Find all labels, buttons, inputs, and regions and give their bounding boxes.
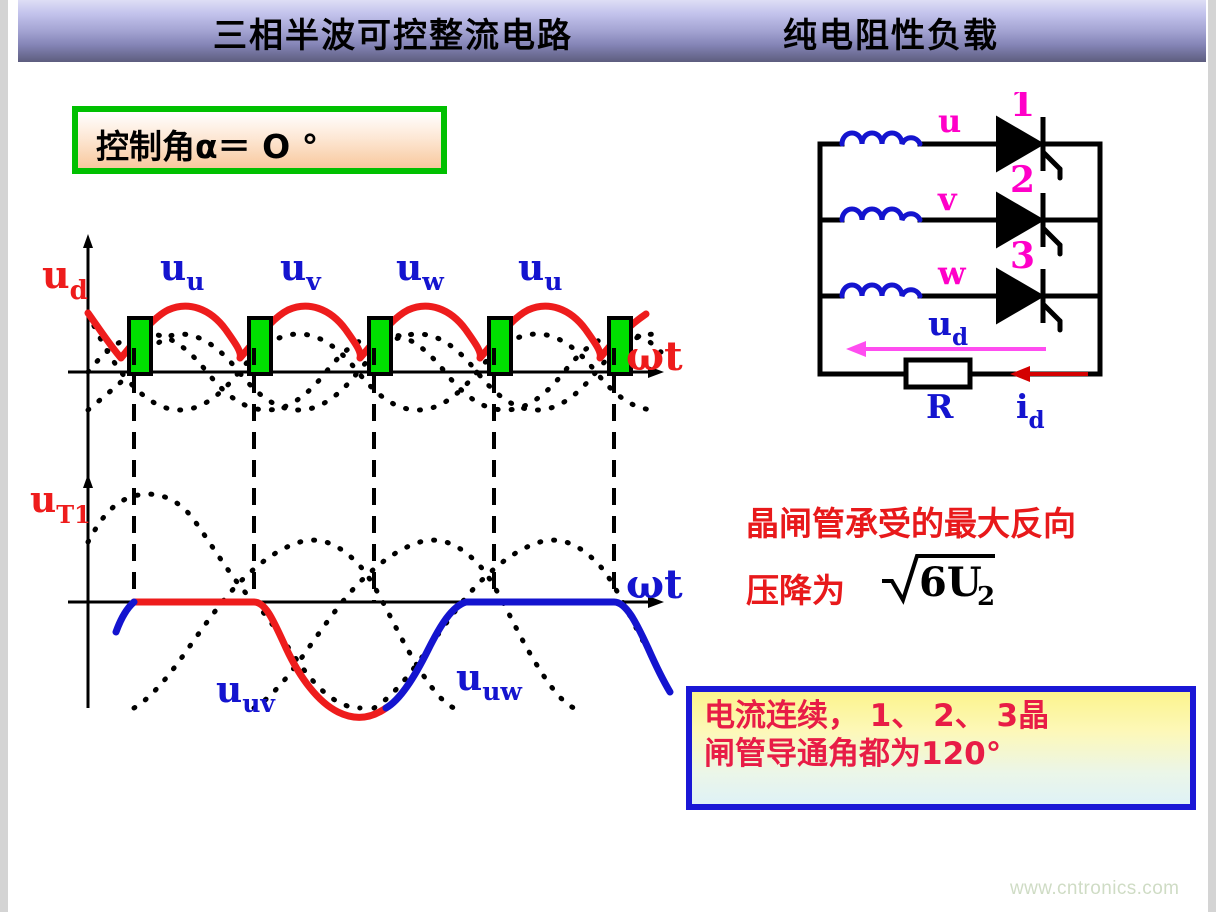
curve-label-uu-1: uu: [160, 247, 204, 296]
curve-label-uu-2: uu: [518, 247, 562, 296]
max-reverse-voltage-statement: 晶闸管承受的最大反向 压降为 6U 2: [746, 500, 1186, 619]
curve-label-uuw: uuw: [456, 657, 523, 706]
slide-canvas: 三相半波可控整流电路 纯电阻性负载 控制角α＝ O °: [8, 0, 1208, 912]
curve-label-uw: uw: [396, 247, 445, 296]
transformer-coil-group: [842, 133, 920, 296]
id-label: id: [1016, 387, 1045, 432]
ud-label: ud: [928, 304, 968, 351]
page-subtitle: 纯电阻性负载: [783, 8, 999, 57]
watermark: www.cntronics.com: [1010, 878, 1179, 900]
thyristor-label-1: 1: [1010, 92, 1035, 125]
gate-pulse: [369, 318, 391, 374]
thyristor-label-3: 3: [1010, 235, 1035, 277]
statement-line-2-text: 压降为: [746, 571, 845, 610]
phase-label-v: v: [937, 180, 958, 218]
slide-header: 三相半波可控整流电路 纯电阻性负载: [18, 0, 1206, 62]
phase-label-w: w: [937, 254, 967, 292]
curve-label-uuv: uuv: [216, 669, 276, 718]
control-angle-text: 控制角α＝ O °: [96, 120, 318, 168]
note-line-1: 电流连续， 1、 2、 3晶: [704, 698, 1190, 736]
gate-pulse: [249, 318, 271, 374]
formula-subscript: 2: [977, 582, 995, 606]
id-arrow: [1010, 366, 1088, 382]
resistor-symbol: [906, 360, 970, 387]
statement-line-1: 晶闸管承受的最大反向: [746, 500, 1186, 548]
thyristor-3: [998, 269, 1060, 330]
ut1-axis-label: uT1: [30, 479, 91, 529]
omega-t-label-bottom: ωt: [626, 561, 683, 608]
omega-t-label-top: ωt: [626, 333, 683, 380]
gate-pulse: [489, 318, 511, 374]
circuit-diagram: u v w 1 2 3 ud R id: [798, 92, 1128, 432]
sqrt6u2-formula: 6U 2: [879, 548, 1001, 619]
resistor-label: R: [926, 387, 954, 426]
gate-pulse: [129, 318, 151, 374]
ut1-trace-blue: [116, 602, 670, 708]
conduction-note-box: 电流连续， 1、 2、 3晶 闸管导通角都为120°: [686, 686, 1196, 810]
ud-arrow: [846, 341, 1046, 357]
coil-u: [842, 133, 920, 144]
bottom-plot-axes: [68, 474, 664, 708]
page-title: 三相半波可控整流电路: [213, 8, 573, 57]
ud-axis-label: ud: [42, 252, 88, 306]
thyristor-label-2: 2: [1010, 159, 1035, 201]
note-line-2: 闸管导通角都为120°: [704, 736, 1190, 774]
coil-w: [842, 285, 920, 296]
formula-radicand: 6U: [919, 559, 982, 606]
control-angle-box: 控制角α＝ O °: [72, 106, 447, 174]
phase-label-u: u: [938, 102, 961, 140]
commutation-dashed-lines: [134, 348, 614, 602]
waveform-diagram: ud uu uv uw uu ωt uT1 uuv uuw ωt: [28, 230, 688, 750]
statement-line-2: 压降为 6U 2: [746, 548, 1186, 619]
coil-v: [842, 209, 920, 220]
curve-label-uv: uv: [280, 247, 322, 296]
